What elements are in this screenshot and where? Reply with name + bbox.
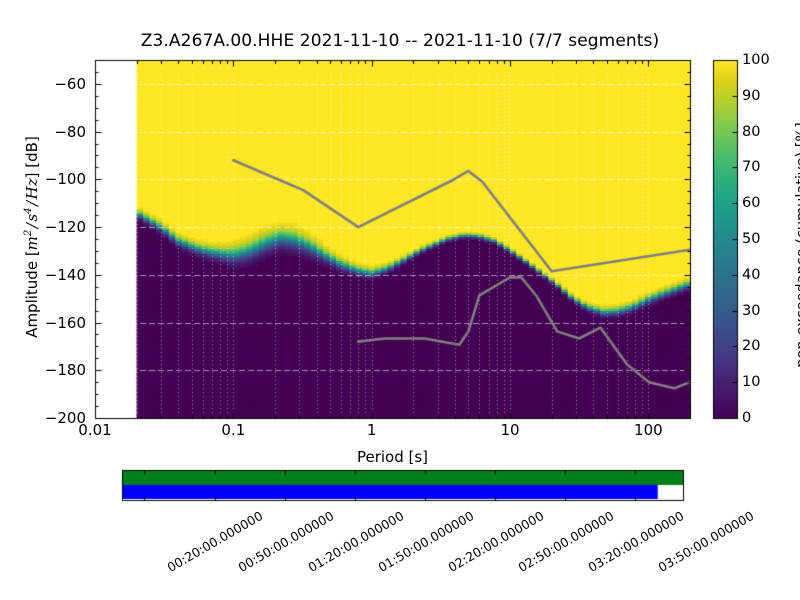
x-tick-label: 100 <box>634 421 663 439</box>
colorbar-label: non-exceedance (cumulative) [%] <box>794 55 800 435</box>
y-tick-label: −100 <box>45 170 86 188</box>
colorbar-tick-label: 90 <box>742 88 760 104</box>
x-tick-label: 1 <box>367 421 377 439</box>
x-tick-label: 10 <box>500 421 519 439</box>
x-axis-label: Period [s] <box>95 448 690 466</box>
colorbar-tick-label: 30 <box>742 303 760 319</box>
y-axis-ticks: −60−80−100−120−140−160−180−200 <box>0 0 86 600</box>
colorbar-tick-label: 20 <box>742 338 760 354</box>
y-tick-label: −80 <box>54 123 86 141</box>
x-tick-label: 0.01 <box>78 421 111 439</box>
colorbar-tick-label: 0 <box>742 410 751 426</box>
colorbar-tick-label: 80 <box>742 124 760 140</box>
plot-title: Z3.A267A.00.HHE 2021-11-10 -- 2021-11-10… <box>0 31 800 51</box>
colorbar-tick-label: 100 <box>742 52 770 68</box>
x-tick-label: 0.1 <box>221 421 245 439</box>
colorbar-tick-label: 50 <box>742 231 760 247</box>
ppsd-figure: Z3.A267A.00.HHE 2021-11-10 -- 2021-11-10… <box>0 0 800 600</box>
colorbar-tick-label: 70 <box>742 159 760 175</box>
y-tick-label: −160 <box>45 314 86 332</box>
colorbar-tick-label: 40 <box>742 267 760 283</box>
y-tick-label: −180 <box>45 361 86 379</box>
colorbar-tick-label: 10 <box>742 374 760 390</box>
y-tick-label: −120 <box>45 218 86 236</box>
colorbar-tick-label: 60 <box>742 195 760 211</box>
y-tick-label: −60 <box>54 75 86 93</box>
y-tick-label: −140 <box>45 266 86 284</box>
